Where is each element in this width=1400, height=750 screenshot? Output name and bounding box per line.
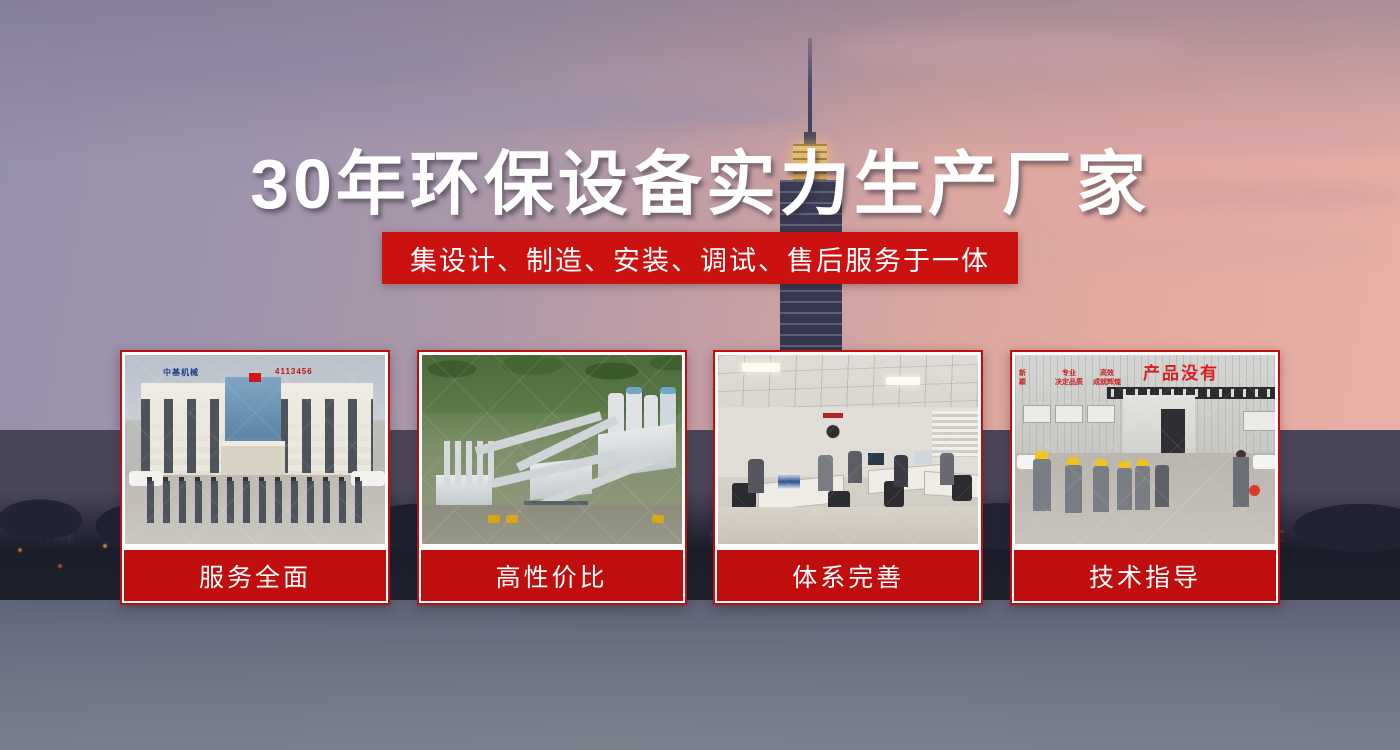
cloud [560, 60, 860, 90]
feature-cards: 中基机械 4113456 服务全面 [120, 350, 1280, 605]
factory-slogan: 高效成就辉煌 [1093, 369, 1121, 387]
card-caption-bar: 体系完善 [715, 547, 981, 603]
excavator [652, 515, 664, 523]
cloud [60, 40, 480, 86]
river [0, 600, 1400, 750]
monitor [914, 451, 932, 464]
cloud [830, 30, 1190, 70]
feature-card-guidance[interactable]: 产品没有 新颖 专业决定品质 高效成就辉煌 [1010, 350, 1280, 605]
office-worker [940, 453, 954, 485]
plant-yard [422, 505, 682, 547]
photo-factory-workers: 产品没有 新颖 专业决定品质 高效成就辉煌 [1012, 352, 1278, 547]
feature-card-service[interactable]: 中基机械 4113456 服务全面 [120, 350, 390, 605]
photo-office-interior [715, 352, 981, 547]
worker [1117, 468, 1132, 510]
office-worker [894, 455, 908, 487]
hard-hat-icon [1137, 459, 1148, 466]
office-worker [848, 451, 862, 483]
factory-window [1023, 405, 1051, 423]
card-caption-text: 高性价比 [496, 558, 608, 594]
hard-hat-icon [1119, 461, 1130, 468]
feature-card-system[interactable]: 体系完善 [713, 350, 983, 605]
window-blinds [932, 411, 981, 457]
desk-item [778, 473, 800, 489]
card-caption-text: 服务全面 [199, 558, 311, 594]
flag-icon [249, 373, 261, 382]
worker [1155, 465, 1169, 507]
car [1253, 455, 1278, 469]
card-caption-bar: 服务全面 [122, 547, 388, 603]
staff-row [147, 481, 371, 523]
silo-cap [626, 387, 642, 394]
factory-window [1243, 411, 1278, 431]
photo-industrial-plant [419, 352, 685, 547]
promo-banner: 30年环保设备实力生产厂家 集设计、制造、安装、调试、售后服务于一体 中基机械 … [0, 0, 1400, 750]
subtitle-banner: 集设计、制造、安装、调试、售后服务于一体 [382, 232, 1018, 284]
card-caption-bar: 技术指导 [1012, 547, 1278, 603]
worker [1065, 465, 1082, 513]
river-sheen [0, 600, 1400, 750]
worker [1135, 466, 1150, 510]
factory-door [1161, 409, 1185, 453]
page-title: 30年环保设备实力生产厂家 [0, 128, 1400, 229]
silo-cap [660, 387, 676, 394]
forest-backdrop [422, 355, 682, 413]
worker [1033, 459, 1051, 511]
office-worker [818, 455, 833, 491]
monitor [868, 453, 884, 465]
red-helmet-icon [1249, 485, 1260, 496]
floor [718, 507, 978, 547]
ceiling-light [886, 377, 920, 385]
photo-company-building: 中基机械 4113456 [122, 352, 388, 547]
office-worker [748, 459, 764, 493]
factory-sign-text: 产品没有 [1143, 359, 1219, 384]
cloud [300, 95, 820, 129]
factory-slogan: 专业决定品质 [1055, 369, 1083, 387]
factory-window [1055, 405, 1083, 423]
company-phone-text: 4113456 [275, 367, 313, 376]
excavator [488, 515, 500, 523]
card-caption-text: 体系完善 [792, 558, 904, 594]
hard-hat-icon [1035, 451, 1048, 459]
hard-hat-icon [1067, 457, 1079, 465]
card-caption-text: 技术指导 [1089, 558, 1201, 594]
silo [626, 389, 642, 433]
company-sign-text: 中基机械 [163, 367, 199, 378]
feature-card-value[interactable]: 高性价比 [417, 350, 687, 605]
worker [1093, 466, 1109, 512]
chair [952, 475, 972, 501]
excavator [506, 515, 518, 523]
hard-hat-icon [1095, 459, 1107, 466]
factory-window [1087, 405, 1115, 423]
factory-slogan: 新颖 [1019, 369, 1026, 387]
subtitle-text: 集设计、制造、安装、调试、售后服务于一体 [410, 239, 990, 278]
supervisor [1233, 457, 1249, 507]
ceiling-light [742, 363, 780, 372]
wall-decal [814, 413, 852, 443]
card-caption-bar: 高性价比 [419, 547, 685, 603]
